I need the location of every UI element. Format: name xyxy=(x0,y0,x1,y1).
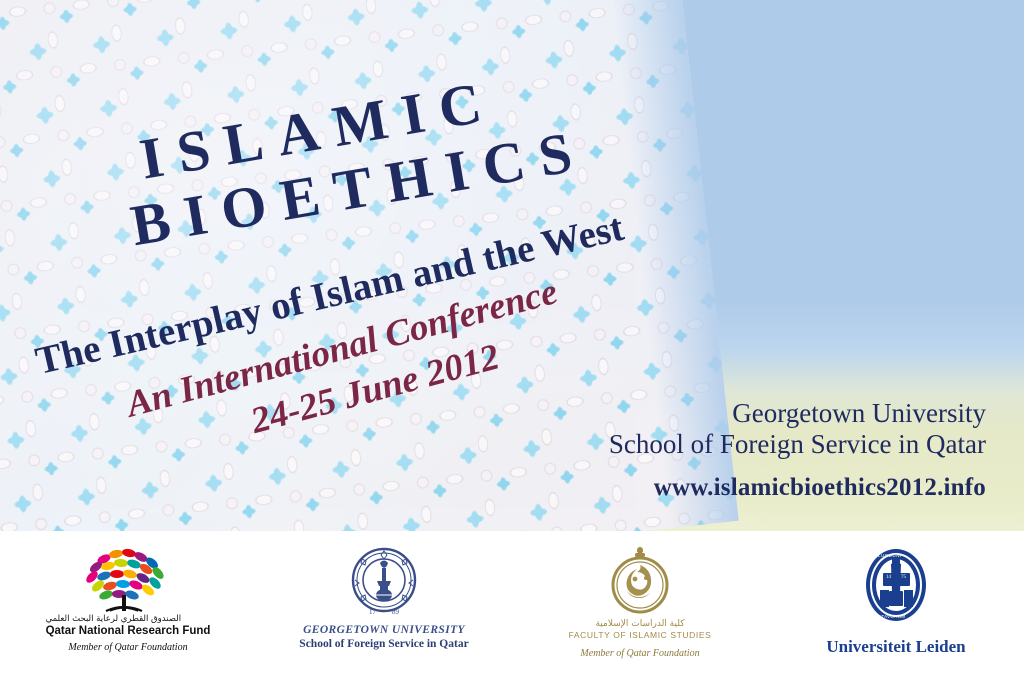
svg-text:LUGDUNI: LUGDUNI xyxy=(878,553,901,558)
svg-text:89: 89 xyxy=(392,608,400,616)
svg-text:75: 75 xyxy=(901,575,907,580)
sponsor-logo-faculty-of-islamic-studies: كلية الدراسات الإسلامية FACULTY OF ISLAM… xyxy=(525,545,755,659)
islamic-studies-tagline: Member of Qatar Foundation xyxy=(525,648,755,659)
georgetown-seal-icon: 17 89 xyxy=(347,545,421,619)
svg-text:BATAVORUM: BATAVORUM xyxy=(875,614,905,619)
sponsor-logo-universiteit-leiden: 14 75 LUGDUNI BATAVORUM Universiteit Lei… xyxy=(781,545,1011,657)
islamic-studies-arabic-name: كلية الدراسات الإسلامية xyxy=(525,619,755,629)
leiden-name: Universiteit Leiden xyxy=(781,637,1011,657)
host-institution: Georgetown University School of Foreign … xyxy=(466,398,986,460)
sponsor-logo-row: الصندوق القطري لرعاية البحث العلمي Qatar… xyxy=(0,531,1024,683)
conference-website-url[interactable]: www.islamicbioethics2012.info xyxy=(466,474,986,502)
conference-poster: ISLAMIC BIOETHICS The Interplay of Islam… xyxy=(0,0,1024,683)
host-institution-line-1: Georgetown University xyxy=(466,398,986,429)
colorful-tree-icon xyxy=(76,545,180,613)
leiden-seal-icon: 14 75 LUGDUNI BATAVORUM xyxy=(858,545,934,629)
georgetown-tagline: School of Foreign Service in Qatar xyxy=(269,638,499,650)
svg-text:14: 14 xyxy=(886,575,892,580)
georgetown-name: GEORGETOWN UNIVERSITY xyxy=(269,624,499,636)
sponsor-logo-qatar-national-research-fund: الصندوق القطري لرعاية البحث العلمي Qatar… xyxy=(13,545,243,653)
svg-text:17: 17 xyxy=(369,608,377,616)
islamic-studies-english-name: FACULTY OF ISLAMIC STUDIES xyxy=(525,630,755,640)
qnrf-tagline: Member of Qatar Foundation xyxy=(13,642,243,653)
sponsor-logo-georgetown-university: 17 89 GEORGETOWN UNIVERSITY School of Fo… xyxy=(269,545,499,650)
sponsor-footer: الصندوق القطري لرعاية البحث العلمي Qatar… xyxy=(0,531,1024,683)
host-institution-line-2: School of Foreign Service in Qatar xyxy=(466,429,986,460)
islamic-studies-medallion-icon xyxy=(605,545,675,615)
qnrf-english-name: Qatar National Research Fund xyxy=(46,625,211,637)
qnrf-arabic-name: الصندوق القطري لرعاية البحث العلمي xyxy=(46,614,211,624)
